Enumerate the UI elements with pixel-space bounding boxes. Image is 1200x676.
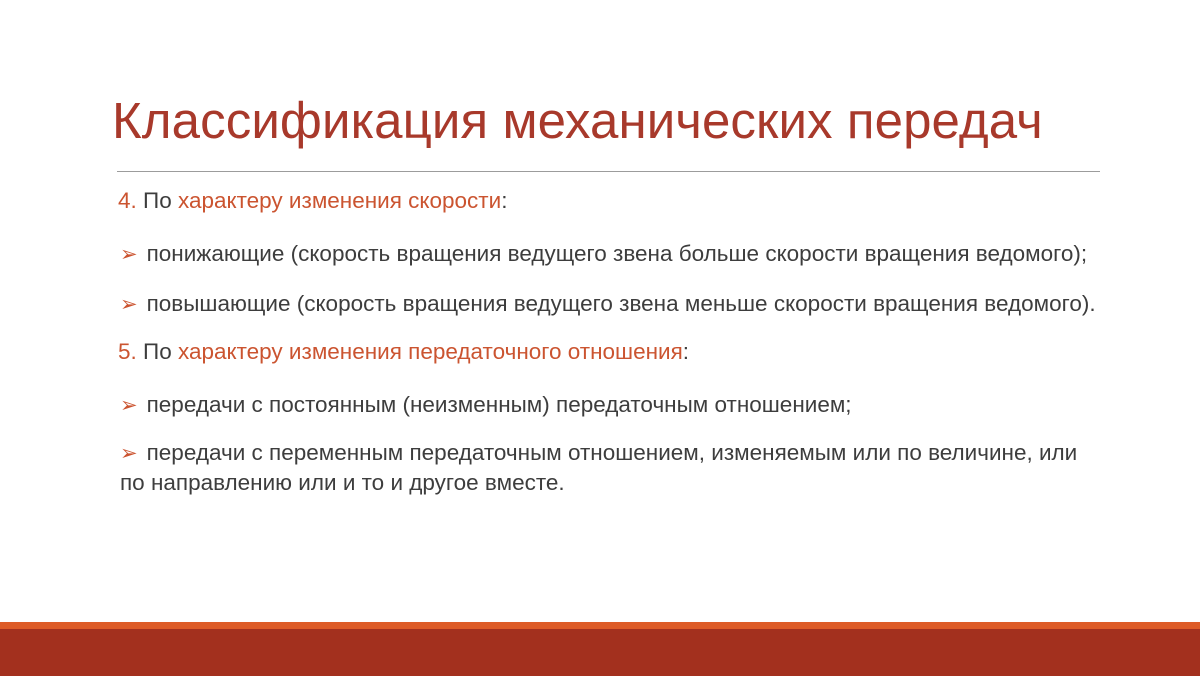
list-item-text: передачи с постоянным (неизменным) перед… <box>147 392 852 417</box>
list-item: ➢повышающие (скорость вращения ведущего … <box>110 289 1100 318</box>
footer-band <box>0 629 1200 676</box>
list-item-text: передачи с переменным передаточным отнош… <box>120 440 1077 494</box>
arrow-bullet-icon: ➢ <box>120 243 147 266</box>
section-lead-5: По <box>137 339 178 364</box>
section-accent-4: характеру изменения скорости <box>178 188 501 213</box>
section-number-5: 5. <box>118 339 137 364</box>
title-block: Классификация механических передач <box>112 92 1102 149</box>
footer-accent-stripe <box>0 622 1200 629</box>
list-item: ➢передачи с постоянным (неизменным) пере… <box>110 390 1100 419</box>
content-body: 4. По характеру изменения скорости: ➢пон… <box>110 186 1100 497</box>
section-heading-4: 4. По характеру изменения скорости: <box>110 186 1100 215</box>
slide-canvas: Классификация механических передач 4. По… <box>0 0 1200 676</box>
arrow-bullet-icon: ➢ <box>120 394 147 417</box>
list-item-text: понижающие (скорость вращения ведущего з… <box>147 241 1087 266</box>
section-heading-5: 5. По характеру изменения передаточного … <box>110 337 1100 366</box>
arrow-bullet-icon: ➢ <box>120 442 147 465</box>
arrow-bullet-icon: ➢ <box>120 293 147 316</box>
list-item: ➢передачи с переменным передаточным отно… <box>110 438 1100 497</box>
title-underline-rule <box>117 171 1100 172</box>
page-title: Классификация механических передач <box>112 92 1102 149</box>
section-tail-5: : <box>683 339 689 364</box>
section-number-4: 4. <box>118 188 137 213</box>
list-item: ➢понижающие (скорость вращения ведущего … <box>110 239 1100 268</box>
section-lead-4: По <box>137 188 178 213</box>
section-accent-5: характеру изменения передаточного отноше… <box>178 339 683 364</box>
list-item-text: повышающие (скорость вращения ведущего з… <box>147 291 1096 316</box>
section-tail-4: : <box>501 188 507 213</box>
